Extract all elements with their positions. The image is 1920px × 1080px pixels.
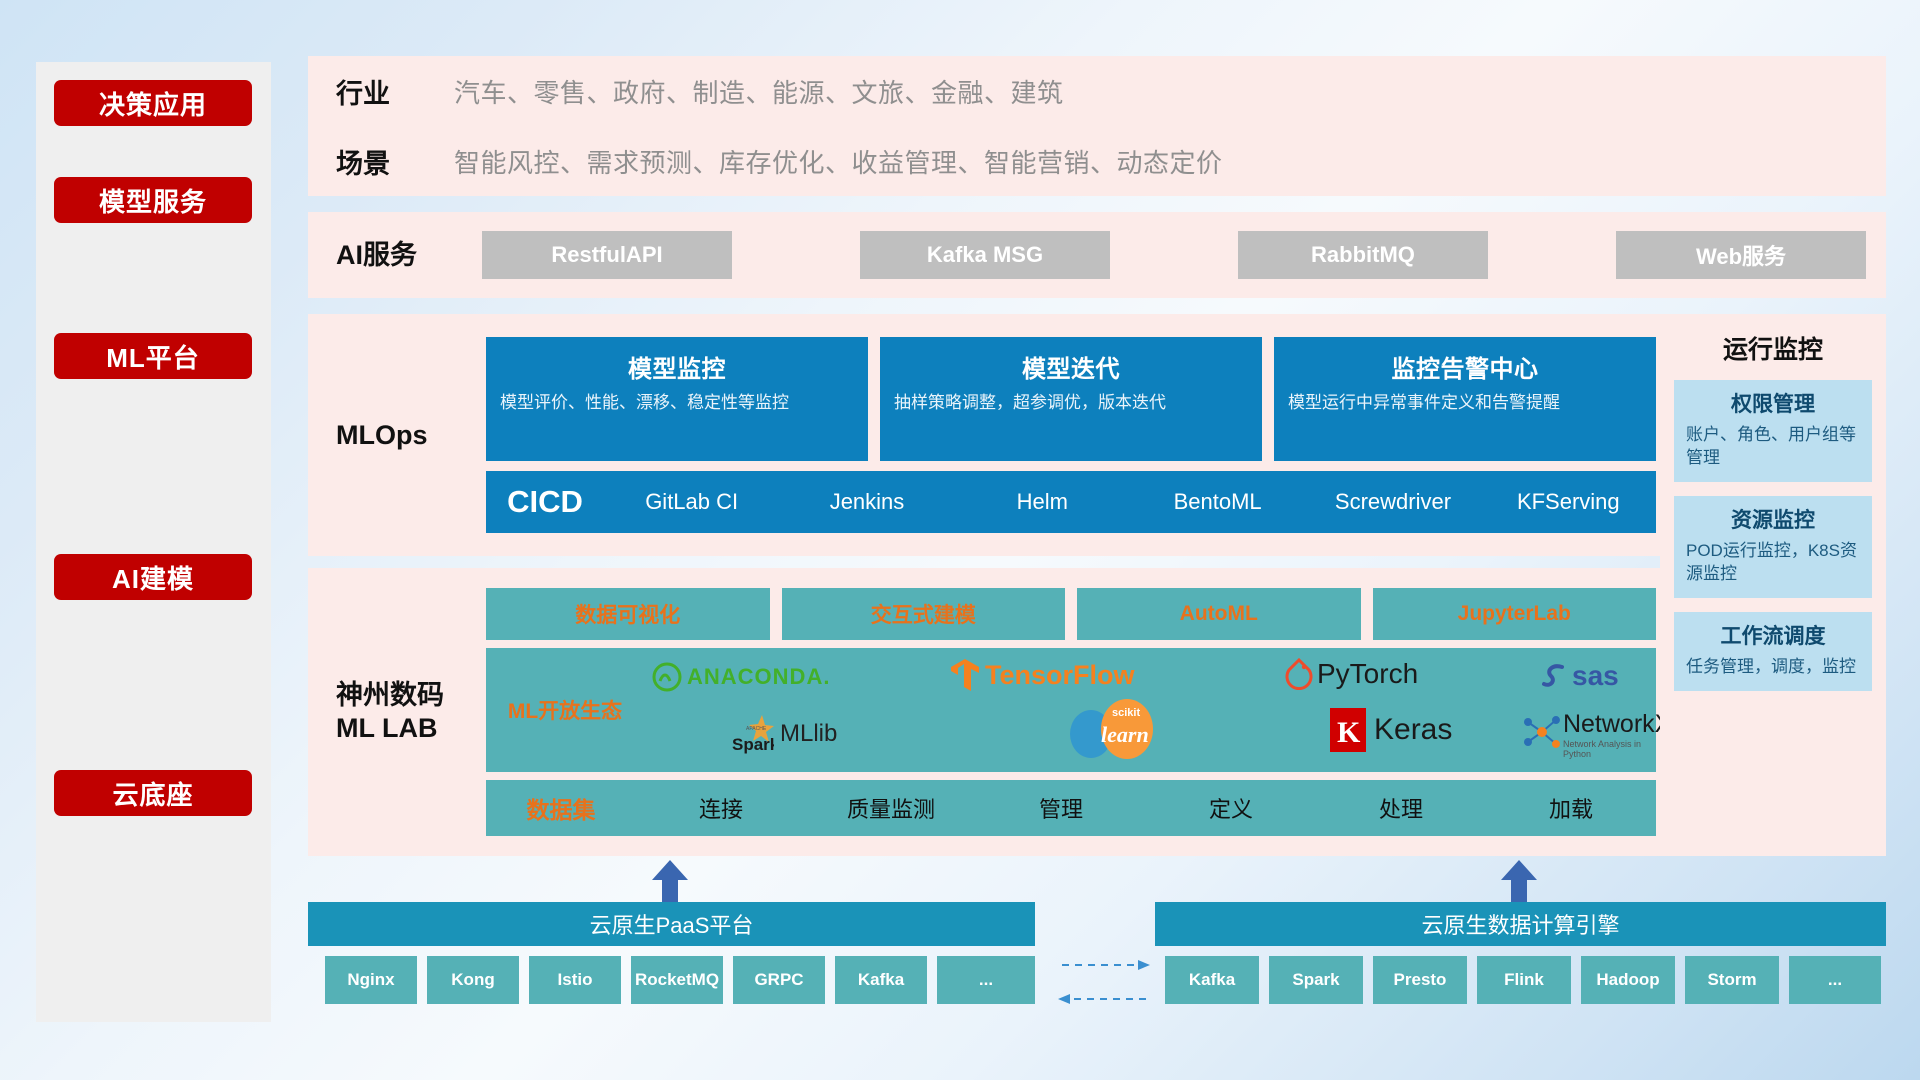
cicd-row: CICD GitLab CI Jenkins Helm BentoML Scre… bbox=[486, 471, 1656, 533]
svg-text:APACHE: APACHE bbox=[746, 726, 767, 732]
rail-pill-ai-modeling[interactable]: AI建模 bbox=[54, 554, 252, 600]
chip-grpc[interactable]: GRPC bbox=[733, 956, 825, 1004]
anaconda-icon bbox=[652, 662, 682, 692]
spark-icon: APACHE Spark bbox=[732, 714, 774, 754]
svg-text:learn: learn bbox=[1101, 722, 1149, 747]
networkx-icon bbox=[1520, 712, 1560, 752]
dataset-item-process[interactable]: 处理 bbox=[1316, 792, 1486, 824]
paas-component-chips: Nginx Kong Istio RocketMQ GRPC Kafka ... bbox=[325, 956, 1035, 1004]
mllib-wordmark: MLlib bbox=[780, 720, 837, 748]
ml-lab-label: 神州数码 ML LAB bbox=[308, 679, 486, 745]
logo-keras: K Keras bbox=[1330, 708, 1452, 752]
ai-service-band: AI服务 RestfulAPI Kafka MSG RabbitMQ Web服务 bbox=[308, 212, 1886, 298]
card-desc: 任务管理，调度，监控 bbox=[1686, 656, 1860, 679]
logo-pytorch: PyTorch bbox=[1285, 658, 1418, 690]
dataset-item-quality[interactable]: 质量监测 bbox=[806, 792, 976, 824]
dashed-link-icon bbox=[1058, 955, 1150, 1011]
card-desc: 抽样策略调整，超参调优，版本迭代 bbox=[894, 392, 1248, 415]
chip-more[interactable]: ... bbox=[937, 956, 1035, 1004]
card-desc: 模型评价、性能、漂移、稳定性等监控 bbox=[500, 392, 854, 415]
mlops-card-model-monitoring[interactable]: 模型监控 模型评价、性能、漂移、稳定性等监控 bbox=[486, 337, 868, 461]
chip-kafka-engine[interactable]: Kafka bbox=[1165, 956, 1259, 1004]
logo-tensorflow: TensorFlow bbox=[950, 658, 1135, 692]
scenario-value: 智能风控、需求预测、库存优化、收益管理、智能营销、动态定价 bbox=[454, 143, 1223, 180]
chip-kong[interactable]: Kong bbox=[427, 956, 519, 1004]
industry-scenario-band: 行业 汽车、零售、政府、制造、能源、文旅、金融、建筑 场景 智能风控、需求预测、… bbox=[308, 56, 1886, 196]
ai-service-label: AI服务 bbox=[336, 239, 454, 272]
cicd-item-jenkins[interactable]: Jenkins bbox=[779, 490, 954, 513]
compute-engine-bar[interactable]: 云原生数据计算引擎 bbox=[1155, 902, 1886, 946]
chip-spark[interactable]: Spark bbox=[1269, 956, 1363, 1004]
tool-data-visualization[interactable]: 数据可视化 bbox=[486, 588, 770, 640]
card-title: 模型监控 bbox=[500, 349, 854, 384]
tool-jupyterlab[interactable]: JupyterLab bbox=[1373, 588, 1657, 640]
cicd-item-gitlab[interactable]: GitLab CI bbox=[604, 490, 779, 513]
pytorch-icon bbox=[1285, 658, 1313, 690]
mlops-card-model-iteration[interactable]: 模型迭代 抽样策略调整，超参调优，版本迭代 bbox=[880, 337, 1262, 461]
card-title: 监控告警中心 bbox=[1288, 349, 1642, 384]
tool-interactive-modeling[interactable]: 交互式建模 bbox=[782, 588, 1066, 640]
cicd-item-kfserving[interactable]: KFServing bbox=[1481, 490, 1656, 513]
cicd-item-helm[interactable]: Helm bbox=[955, 490, 1130, 513]
engine-component-chips: Kafka Spark Presto Flink Hadoop Storm ..… bbox=[1165, 956, 1881, 1004]
scenario-row: 场景 智能风控、需求预测、库存优化、收益管理、智能营销、动态定价 bbox=[336, 134, 1223, 188]
svg-text:scikit: scikit bbox=[1112, 707, 1140, 719]
card-title: 工作流调度 bbox=[1686, 620, 1860, 650]
chip-nginx[interactable]: Nginx bbox=[325, 956, 417, 1004]
service-restfulapi[interactable]: RestfulAPI bbox=[482, 231, 732, 279]
chip-kafka[interactable]: Kafka bbox=[835, 956, 927, 1004]
logo-sas: sas bbox=[1540, 660, 1619, 692]
ai-modeling-band: 神州数码 ML LAB 数据可视化 交互式建模 AutoML JupyterLa… bbox=[308, 568, 1886, 856]
rail-pill-ml-platform[interactable]: ML平台 bbox=[54, 333, 252, 379]
dataset-item-define[interactable]: 定义 bbox=[1146, 792, 1316, 824]
mlops-label: MLOps bbox=[308, 419, 486, 452]
pytorch-wordmark: PyTorch bbox=[1317, 658, 1418, 690]
eco-label: ML开放生态 bbox=[490, 695, 640, 725]
logo-anaconda: ANACONDA. bbox=[652, 662, 830, 692]
ml-open-ecosystem: ML开放生态 ANACONDA. bbox=[486, 648, 1656, 772]
dataset-row: 数据集 连接 质量监测 管理 定义 处理 加载 bbox=[486, 780, 1656, 836]
anaconda-wordmark: ANACONDA. bbox=[687, 664, 830, 690]
industry-row: 行业 汽车、零售、政府、制造、能源、文旅、金融、建筑 bbox=[336, 64, 1223, 118]
scikit-learn-icon: scikit learn bbox=[1065, 698, 1173, 760]
mlops-card-alert-center[interactable]: 监控告警中心 模型运行中异常事件定义和告警提醒 bbox=[1274, 337, 1656, 461]
cicd-title: CICD bbox=[486, 484, 604, 520]
keras-wordmark: Keras bbox=[1374, 713, 1452, 747]
rail-pill-decision[interactable]: 决策应用 bbox=[54, 80, 252, 126]
networkx-wordmark: NetworkX bbox=[1563, 712, 1671, 737]
dataset-item-manage[interactable]: 管理 bbox=[976, 792, 1146, 824]
arrow-up-icon-paas bbox=[648, 858, 692, 902]
tensorflow-icon bbox=[950, 658, 980, 692]
chip-istio[interactable]: Istio bbox=[529, 956, 621, 1004]
svg-text:K: K bbox=[1337, 716, 1361, 749]
svg-text:Spark: Spark bbox=[732, 735, 774, 754]
monitoring-title: 运行监控 bbox=[1660, 330, 1886, 366]
industry-value: 汽车、零售、政府、制造、能源、文旅、金融、建筑 bbox=[454, 73, 1064, 110]
card-title: 权限管理 bbox=[1686, 388, 1860, 418]
mlops-band: MLOps 模型监控 模型评价、性能、漂移、稳定性等监控 模型迭代 抽样策略调整… bbox=[308, 314, 1886, 556]
card-desc: 模型运行中异常事件定义和告警提醒 bbox=[1288, 392, 1642, 415]
cicd-item-bentoml[interactable]: BentoML bbox=[1130, 490, 1305, 513]
rail-pill-model-service[interactable]: 模型服务 bbox=[54, 177, 252, 223]
monitoring-card-permissions[interactable]: 权限管理 账户、角色、用户组等管理 bbox=[1674, 380, 1872, 482]
service-web[interactable]: Web服务 bbox=[1616, 231, 1866, 279]
cicd-item-screwdriver[interactable]: Screwdriver bbox=[1305, 490, 1480, 513]
chip-rocketmq[interactable]: RocketMQ bbox=[631, 956, 723, 1004]
card-title: 资源监控 bbox=[1686, 504, 1860, 534]
dataset-item-connect[interactable]: 连接 bbox=[636, 792, 806, 824]
networkx-tagline: Network Analysis in Python bbox=[1563, 739, 1671, 759]
service-rabbitmq[interactable]: RabbitMQ bbox=[1238, 231, 1488, 279]
monitoring-card-resources[interactable]: 资源监控 POD运行监控，K8S资源监控 bbox=[1674, 496, 1872, 598]
tool-automl[interactable]: AutoML bbox=[1077, 588, 1361, 640]
logo-networkx: NetworkX Network Analysis in Python bbox=[1520, 712, 1671, 759]
logo-scikit-learn: scikit learn bbox=[1065, 698, 1173, 760]
chip-more-engine[interactable]: ... bbox=[1789, 956, 1881, 1004]
service-kafka-msg[interactable]: Kafka MSG bbox=[860, 231, 1110, 279]
scenario-key: 场景 bbox=[336, 142, 454, 181]
arrow-up-icon-engine bbox=[1497, 858, 1541, 902]
card-desc: POD运行监控，K8S资源监控 bbox=[1686, 540, 1860, 586]
runtime-monitoring-panel: 运行监控 权限管理 账户、角色、用户组等管理 资源监控 POD运行监控，K8S资… bbox=[1660, 314, 1886, 856]
paas-platform-bar[interactable]: 云原生PaaS平台 bbox=[308, 902, 1035, 946]
chip-hadoop[interactable]: Hadoop bbox=[1581, 956, 1675, 1004]
chip-flink[interactable]: Flink bbox=[1477, 956, 1571, 1004]
layer-rail: 决策应用 模型服务 ML平台 AI建模 云底座 bbox=[36, 62, 271, 1022]
architecture-diagram: 决策应用 模型服务 ML平台 AI建模 云底座 行业 汽车、零售、政府、制造、能… bbox=[0, 0, 1920, 1080]
card-desc: 账户、角色、用户组等管理 bbox=[1686, 424, 1860, 470]
tensorflow-wordmark: TensorFlow bbox=[985, 660, 1135, 691]
monitoring-card-workflow[interactable]: 工作流调度 任务管理，调度，监控 bbox=[1674, 612, 1872, 691]
sas-icon bbox=[1540, 661, 1570, 691]
chip-presto[interactable]: Presto bbox=[1373, 956, 1467, 1004]
logo-spark-mllib: APACHE Spark MLlib bbox=[732, 714, 837, 754]
dataset-item-load[interactable]: 加载 bbox=[1486, 792, 1656, 824]
card-title: 模型迭代 bbox=[894, 349, 1248, 384]
industry-key: 行业 bbox=[336, 72, 454, 111]
chip-storm[interactable]: Storm bbox=[1685, 956, 1779, 1004]
rail-pill-cloud-base[interactable]: 云底座 bbox=[54, 770, 252, 816]
dataset-title: 数据集 bbox=[486, 791, 636, 825]
sas-wordmark: sas bbox=[1572, 660, 1619, 692]
keras-icon: K bbox=[1330, 708, 1366, 752]
